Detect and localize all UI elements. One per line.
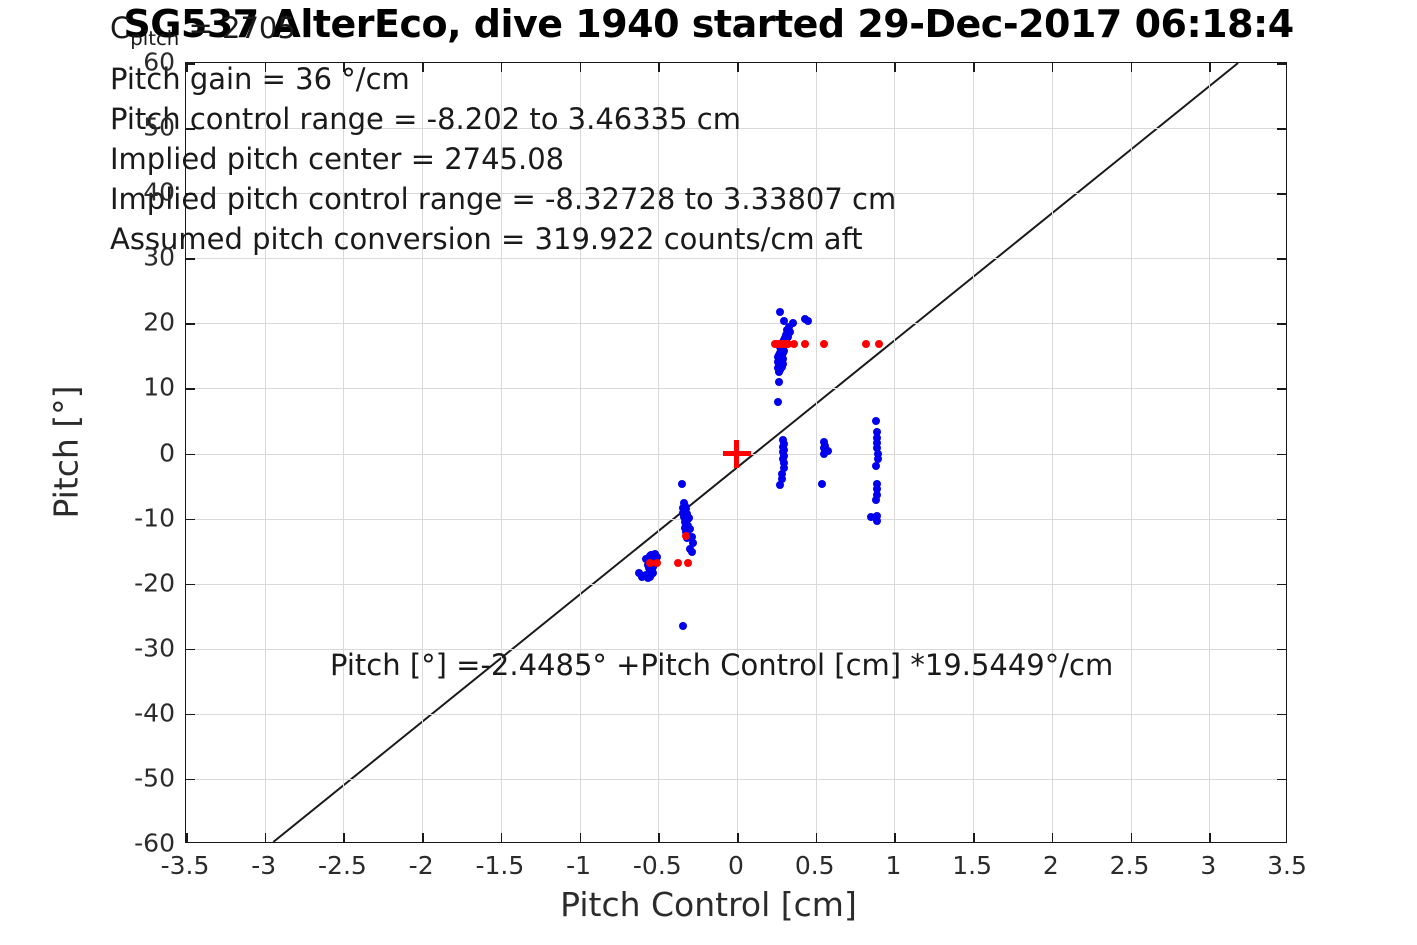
- y-axis-tick: [1277, 193, 1286, 195]
- x-axis-tick: [973, 833, 975, 842]
- y-tick-label: -20: [67, 568, 175, 597]
- x-tick-label: 1.5: [952, 851, 992, 880]
- gridline-horizontal: [186, 388, 1286, 389]
- center-marker-icon: [723, 440, 751, 468]
- annotation-line-5: Implied pitch control range = -8.32728 t…: [110, 179, 896, 219]
- y-tick-label: 20: [67, 308, 175, 337]
- x-axis-label: Pitch Control [cm]: [560, 885, 857, 924]
- y-axis-tick: [186, 584, 195, 586]
- data-point-reference: [682, 532, 690, 540]
- y-axis-tick: [186, 714, 195, 716]
- x-tick-label: -2.5: [318, 851, 367, 880]
- y-tick-label: -30: [67, 633, 175, 662]
- y-axis-tick: [1277, 584, 1286, 586]
- data-point-observed: [688, 548, 696, 556]
- data-point-observed: [818, 480, 826, 488]
- data-point-reference: [862, 340, 870, 348]
- annotation-line-2: Pitch gain = 36 °/cm: [110, 59, 896, 99]
- gridline-horizontal: [186, 323, 1286, 324]
- data-point-observed: [872, 417, 880, 425]
- y-axis-tick: [1277, 714, 1286, 716]
- annotation-line-1-prefix: C: [110, 11, 130, 45]
- fit-equation-label: Pitch [°] =-2.4485° +Pitch Control [cm] …: [330, 648, 1113, 682]
- x-axis-tick: [1287, 833, 1288, 842]
- data-point-observed: [786, 328, 794, 336]
- x-tick-label: 2.5: [1110, 851, 1150, 880]
- data-point-reference: [875, 340, 883, 348]
- y-tick-label: -60: [67, 829, 175, 858]
- data-point-observed: [873, 517, 881, 525]
- y-axis-tick: [186, 779, 195, 781]
- y-axis-tick: [1277, 323, 1286, 325]
- annotation-line-3: Pitch control range = -8.202 to 3.46335 …: [110, 99, 896, 139]
- y-axis-tick: [1277, 779, 1286, 781]
- gridline-vertical: [1209, 63, 1210, 842]
- y-axis-tick: [186, 454, 195, 456]
- x-tick-label: 0: [728, 851, 744, 880]
- x-tick-label: 3: [1200, 851, 1216, 880]
- gridline-horizontal: [186, 779, 1286, 780]
- y-tick-label: 50: [67, 113, 175, 142]
- x-axis-tick: [1209, 833, 1211, 842]
- x-axis-tick: [343, 833, 345, 842]
- data-point-reference: [653, 559, 661, 567]
- data-point-observed: [776, 481, 784, 489]
- gridline-horizontal: [186, 714, 1286, 715]
- data-point-observed: [775, 378, 783, 386]
- y-axis-tick: [186, 843, 195, 844]
- annotation-line-1: Cpitch = 2705: [110, 8, 896, 59]
- x-tick-label: 0.5: [795, 851, 835, 880]
- x-axis-tick: [658, 833, 660, 842]
- x-tick-label: 3.5: [1267, 851, 1307, 880]
- y-tick-label: -10: [67, 503, 175, 532]
- y-tick-label: 40: [67, 178, 175, 207]
- data-point-reference: [684, 559, 692, 567]
- y-axis-tick: [1277, 63, 1286, 65]
- gridline-vertical: [1052, 63, 1053, 842]
- x-tick-label: 1: [885, 851, 901, 880]
- data-point-observed: [649, 569, 657, 577]
- data-point-observed: [776, 308, 784, 316]
- x-tick-label: -0.5: [633, 851, 682, 880]
- x-tick-label: -3: [251, 851, 276, 880]
- annotation-line-4: Implied pitch center = 2745.08: [110, 139, 896, 179]
- data-point-observed: [804, 317, 812, 325]
- annotation-line-1-subscript: pitch: [130, 27, 179, 50]
- x-axis-tick: [1052, 833, 1054, 842]
- y-tick-label: 30: [67, 243, 175, 272]
- x-tick-label: -1: [566, 851, 591, 880]
- data-point-reference: [820, 340, 828, 348]
- y-tick-label: 60: [67, 48, 175, 77]
- gridline-horizontal: [186, 519, 1286, 520]
- x-axis-tick: [894, 833, 896, 842]
- x-axis-tick: [422, 833, 424, 842]
- data-point-observed: [872, 496, 880, 504]
- x-axis-tick: [1209, 63, 1211, 72]
- pitch-calibration-figure: SG537 AlterEco, dive 1940 started 29-Dec…: [0, 0, 1417, 945]
- x-axis-tick: [1131, 833, 1133, 842]
- gridline-horizontal: [186, 584, 1286, 585]
- y-axis-tick: [1277, 519, 1286, 521]
- x-tick-label: -1.5: [475, 851, 524, 880]
- y-tick-label: -40: [67, 698, 175, 727]
- annotation-line-6: Assumed pitch conversion = 319.922 count…: [110, 219, 896, 259]
- data-point-observed: [679, 622, 687, 630]
- data-point-observed: [872, 462, 880, 470]
- y-tick-label: 0: [67, 438, 175, 467]
- data-point-reference: [674, 559, 682, 567]
- y-axis-tick: [186, 519, 195, 521]
- y-axis-tick: [1277, 128, 1286, 130]
- y-axis-tick: [1277, 454, 1286, 456]
- data-point-observed: [774, 398, 782, 406]
- x-axis-tick: [265, 833, 267, 842]
- annotation-block: Cpitch = 2705 Pitch gain = 36 °/cm Pitch…: [110, 8, 896, 259]
- data-point-observed: [638, 573, 646, 581]
- y-axis-tick: [1277, 649, 1286, 651]
- gridline-vertical: [973, 63, 974, 842]
- x-axis-tick: [1052, 63, 1054, 72]
- y-axis-tick: [186, 388, 195, 390]
- data-point-observed: [685, 514, 693, 522]
- y-axis-tick: [1277, 258, 1286, 260]
- y-tick-label: 10: [67, 373, 175, 402]
- y-axis-tick: [1277, 388, 1286, 390]
- data-point-observed: [789, 319, 797, 327]
- data-point-reference: [790, 340, 798, 348]
- x-axis-tick: [1131, 63, 1133, 72]
- x-axis-tick: [1287, 63, 1288, 72]
- x-tick-label: 2: [1043, 851, 1059, 880]
- y-axis-tick: [186, 649, 195, 651]
- x-axis-tick: [580, 833, 582, 842]
- y-axis-tick: [186, 323, 195, 325]
- x-axis-tick: [737, 833, 739, 842]
- data-point-observed: [678, 480, 686, 488]
- gridline-vertical: [1131, 63, 1132, 842]
- x-axis-tick: [973, 63, 975, 72]
- x-axis-tick: [816, 833, 818, 842]
- data-point-reference: [801, 340, 809, 348]
- data-point-observed: [824, 447, 832, 455]
- y-axis-tick: [1277, 843, 1286, 844]
- x-axis-tick: [186, 833, 188, 842]
- annotation-line-1-suffix: = 2705: [179, 11, 296, 45]
- x-tick-label: -2: [409, 851, 434, 880]
- x-axis-tick: [501, 833, 503, 842]
- y-tick-label: -50: [67, 763, 175, 792]
